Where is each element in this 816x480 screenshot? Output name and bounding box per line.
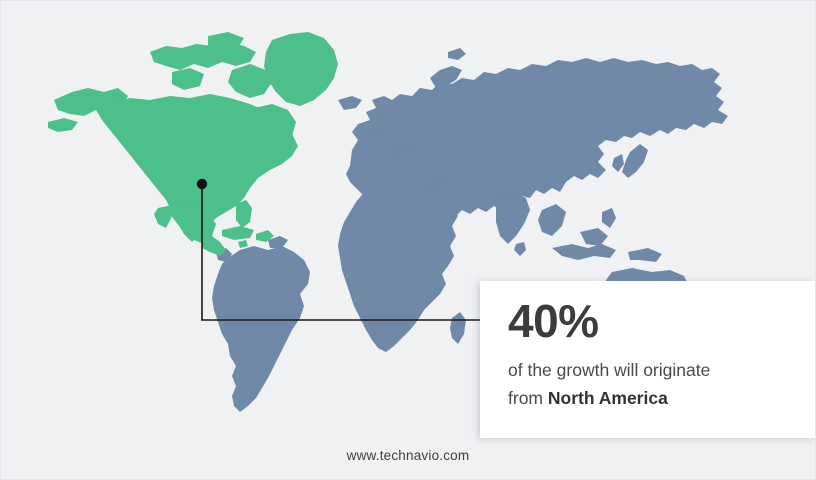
greenland xyxy=(264,32,338,106)
jamaica xyxy=(238,240,248,248)
new-guinea xyxy=(628,248,662,262)
philippines xyxy=(602,208,616,228)
footer-url: www.technavio.com xyxy=(0,448,816,463)
iceland xyxy=(338,96,362,110)
japan xyxy=(622,144,648,178)
indonesia xyxy=(552,244,616,260)
svalbard xyxy=(448,48,466,60)
korean-peninsula xyxy=(612,154,624,172)
madagascar xyxy=(450,312,466,344)
central-america xyxy=(202,236,226,256)
callout-line-1: of the growth will originate xyxy=(508,360,710,380)
canadian-arctic xyxy=(150,42,256,70)
victoria-island xyxy=(172,68,204,90)
india-subcontinent xyxy=(496,192,530,244)
baja-california xyxy=(154,206,172,228)
market-share-infographic: 40% of the growth will originate from No… xyxy=(0,0,816,480)
growth-percentage: 40% xyxy=(508,297,790,347)
florida xyxy=(236,200,252,228)
callout-content: 40% of the growth will originate from No… xyxy=(480,281,816,412)
callout-region-name: North America xyxy=(548,388,668,408)
south-america xyxy=(212,246,310,412)
borneo xyxy=(580,228,608,246)
africa-landmass xyxy=(338,186,458,352)
callout-description: of the growth will originate from North … xyxy=(508,356,790,413)
southeast-asia xyxy=(538,204,566,236)
cuba xyxy=(222,226,254,240)
map-regions-highlight xyxy=(48,32,338,256)
callout-line-2-prefix: from xyxy=(508,388,548,408)
growth-callout-card: 40% of the growth will originate from No… xyxy=(480,281,816,438)
sri-lanka xyxy=(514,242,526,256)
aleutians xyxy=(48,118,78,132)
